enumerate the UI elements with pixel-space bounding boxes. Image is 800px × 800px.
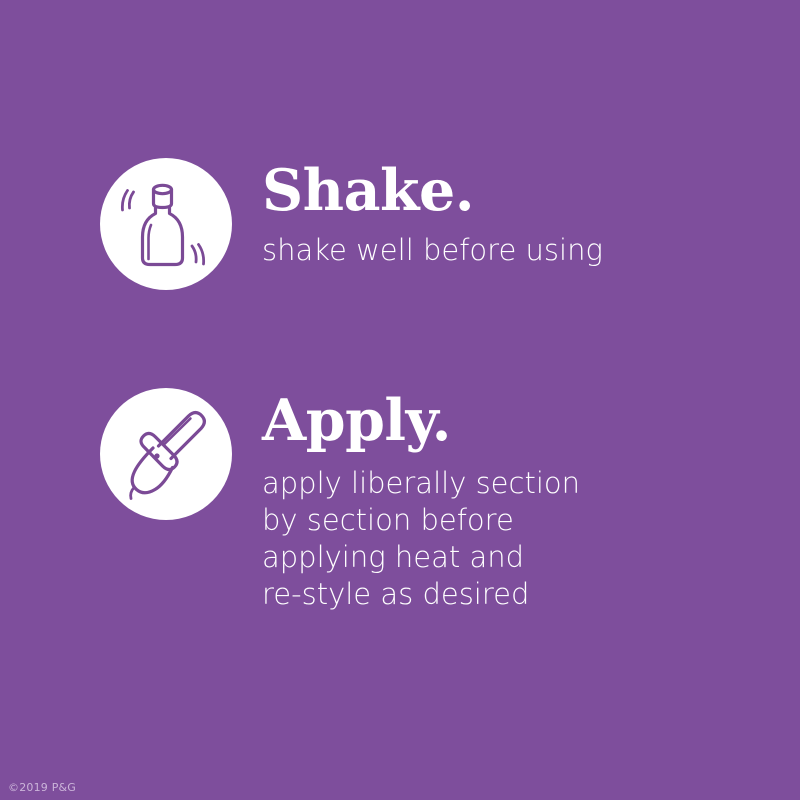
instruction-poster: Shake. shake well before using [0,0,800,800]
apply-icon-badge [100,388,232,520]
shake-icon-badge [100,158,232,290]
dropper-icon [100,388,232,520]
apply-text-block: Apply. apply liberally section by sectio… [262,388,580,613]
bottle-shake-icon [100,158,232,290]
step-description-apply: apply liberally section by section befor… [262,465,580,613]
step-title-shake: Shake. [262,162,603,219]
step-description-shake: shake well before using [262,232,603,269]
shake-text-block: Shake. shake well before using [262,158,603,269]
step-title-apply: Apply. [262,392,580,449]
copyright-notice: ©2019 P&G [8,781,76,794]
step-shake: Shake. shake well before using [100,158,603,290]
step-apply: Apply. apply liberally section by sectio… [100,388,580,613]
